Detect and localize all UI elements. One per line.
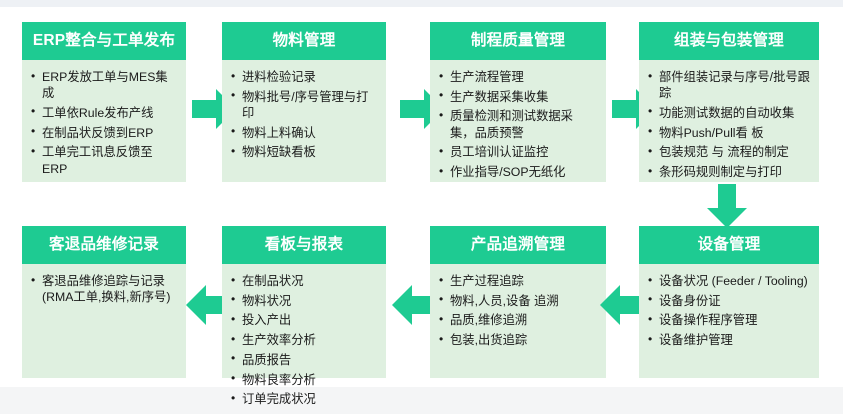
list-item: 物料短缺看板 (231, 144, 377, 160)
list-item: 进料检验记录 (231, 69, 377, 85)
list-item: 在制品状况 (231, 273, 377, 289)
card-title: 制程质量管理 (430, 22, 606, 60)
card-customer-return-repair-record[interactable]: 客退品维修记录 客退品维修追踪与记录 (RMA工单,换料,新序号) (22, 226, 186, 378)
list-item: 设备维护管理 (648, 332, 810, 348)
list-item: 员工培训认证监控 (439, 144, 597, 160)
list-item: 在制品状反馈到ERP (31, 125, 177, 141)
card-body: 在制品状况 物料状况 投入产出 生产效率分析 品质报告 物料良率分析 订单完成状… (222, 264, 386, 417)
list-item: 设备状况 (Feeder / Tooling) (648, 273, 810, 289)
card-title: 产品追溯管理 (430, 226, 606, 264)
top-decorative-band (0, 0, 843, 7)
list-item: 物料状况 (231, 293, 377, 309)
list-item: 生产数据采集收集 (439, 89, 597, 105)
list-item: 物料上料确认 (231, 125, 377, 141)
list-item: 工单依Rule发布产线 (31, 105, 177, 121)
card-assembly-packaging-management[interactable]: 组装与包装管理 部件组装记录与序号/批号跟踪 功能测试数据的自动收集 物料Pus… (639, 22, 819, 182)
card-title: 物料管理 (222, 22, 386, 60)
card-title: ERP整合与工单发布 (22, 22, 186, 60)
card-body: 设备状况 (Feeder / Tooling) 设备身份证 设备操作程序管理 设… (639, 264, 819, 358)
card-body: 进料检验记录 物料批号/序号管理与打印 物料上料确认 物料短缺看板 (222, 60, 386, 170)
list-item: 生产流程管理 (439, 69, 597, 85)
card-product-traceability-management[interactable]: 产品追溯管理 生产过程追踪 物料,人员,设备 追溯 品质,维修追溯 包装,出货追… (430, 226, 606, 378)
list-item: 条形码规则制定与打印 (648, 164, 810, 180)
card-material-management[interactable]: 物料管理 进料检验记录 物料批号/序号管理与打印 物料上料确认 物料短缺看板 (222, 22, 386, 182)
list-item: 品质,维修追溯 (439, 312, 597, 328)
list-item: 生产效率分析 (231, 332, 377, 348)
card-erp-integration[interactable]: ERP整合与工单发布 ERP发放工单与MES集成 工单依Rule发布产线 在制品… (22, 22, 186, 182)
card-title: 组装与包装管理 (639, 22, 819, 60)
list-item: 质量检测和测试数据采集，品质预警 (439, 108, 597, 140)
list-item: 投入产出 (231, 312, 377, 328)
list-item: 部件组装记录与序号/批号跟踪 (648, 69, 810, 101)
list-item: 物料Push/Pull看 板 (648, 125, 810, 141)
arrow-assembly-to-equipment (705, 184, 749, 228)
list-item: 包装规范 与 流程的制定 (648, 144, 810, 160)
bottom-decorative-band (0, 387, 843, 414)
list-item: ERP发放工单与MES集成 (31, 69, 177, 101)
list-item: 功能测试数据的自动收集 (648, 105, 810, 121)
list-item: 设备操作程序管理 (648, 312, 810, 328)
list-item: 品质报告 (231, 352, 377, 368)
list-item: 作业指导/SOP无纸化 (439, 164, 597, 180)
card-body: 生产过程追踪 物料,人员,设备 追溯 品质,维修追溯 包装,出货追踪 (430, 264, 606, 358)
list-item: 订单完成状况 (231, 391, 377, 407)
card-equipment-management[interactable]: 设备管理 设备状况 (Feeder / Tooling) 设备身份证 设备操作程… (639, 226, 819, 378)
card-title: 看板与报表 (222, 226, 386, 264)
list-item: 生产过程追踪 (439, 273, 597, 289)
list-item: 物料,人员,设备 追溯 (439, 293, 597, 309)
card-body: 部件组装记录与序号/批号跟踪 功能测试数据的自动收集 物料Push/Pull看 … (639, 60, 819, 190)
card-body: 生产流程管理 生产数据采集收集 质量检测和测试数据采集，品质预警 员工培训认证监… (430, 60, 606, 190)
list-item: 物料良率分析 (231, 372, 377, 388)
process-flow-diagram: ERP整合与工单发布 ERP发放工单与MES集成 工单依Rule发布产线 在制品… (0, 7, 843, 387)
card-kanban-and-reports[interactable]: 看板与报表 在制品状况 物料状况 投入产出 生产效率分析 品质报告 物料良率分析… (222, 226, 386, 378)
list-item: 工单完工讯息反馈至ERP (31, 144, 177, 176)
arrow-equipment-to-traceability (600, 283, 644, 327)
card-title: 设备管理 (639, 226, 819, 264)
card-process-quality-management[interactable]: 制程质量管理 生产流程管理 生产数据采集收集 质量检测和测试数据采集，品质预警 … (430, 22, 606, 182)
list-item: 包装,出货追踪 (439, 332, 597, 348)
list-item: 设备身份证 (648, 293, 810, 309)
list-item: 物料批号/序号管理与打印 (231, 89, 377, 121)
list-item: 客退品维修追踪与记录 (RMA工单,换料,新序号) (31, 273, 177, 305)
card-title: 客退品维修记录 (22, 226, 186, 264)
card-body: 客退品维修追踪与记录 (RMA工单,换料,新序号) (22, 264, 186, 315)
card-body: ERP发放工单与MES集成 工单依Rule发布产线 在制品状反馈到ERP 工单完… (22, 60, 186, 186)
